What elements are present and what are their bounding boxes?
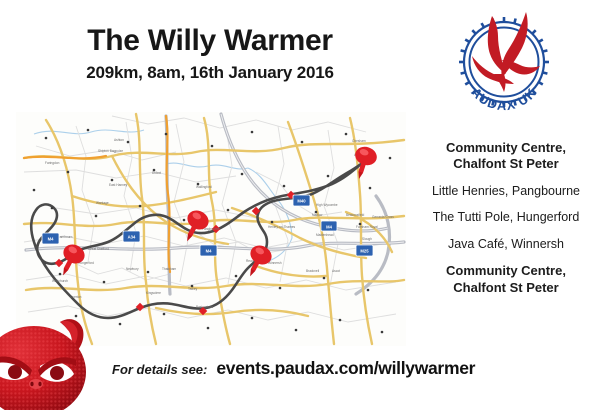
control-point-1: Little Henries, Pangbourne [412, 184, 600, 200]
svg-text:M4: M4 [326, 224, 332, 229]
svg-text:Wallingford: Wallingford [196, 185, 212, 189]
svg-text:M25: M25 [360, 249, 369, 254]
svg-text:Ascot: Ascot [332, 269, 340, 273]
control-points-list: Community Centre, Chalfont St Peter Litt… [412, 140, 600, 307]
svg-text:High Wycombe: High Wycombe [316, 203, 338, 207]
svg-text:M40: M40 [297, 199, 306, 204]
devil-mascot [0, 300, 104, 410]
svg-text:Shipton Bagpuize: Shipton Bagpuize [98, 149, 123, 153]
shield-m4-east: M4 [321, 221, 337, 231]
svg-text:Ashton: Ashton [114, 138, 124, 142]
svg-text:Didcot: Didcot [152, 171, 161, 175]
svg-text:Winnersh: Winnersh [268, 261, 282, 265]
svg-text:Whitchurch: Whitchurch [52, 279, 68, 283]
footer: For details see: events.paudax.com/willy… [112, 358, 475, 379]
svg-text:East Hanney: East Hanney [109, 183, 128, 187]
svg-text:Farnham Royal: Farnham Royal [356, 225, 378, 229]
title-block: The Willy Warmer 209km, 8am, 16th Januar… [0, 24, 420, 83]
svg-text:A34: A34 [128, 235, 136, 240]
svg-text:M4: M4 [206, 249, 212, 254]
shield-a34: A34 [123, 231, 140, 242]
devil-nose-icon [29, 379, 43, 389]
audax-uk-logo: AUDAX UK [448, 8, 560, 120]
control-point-2: The Tutti Pole, Hungerford [412, 210, 600, 226]
svg-text:Gerrards Cross: Gerrards Cross [372, 215, 394, 219]
svg-text:Bracknell: Bracknell [306, 269, 319, 273]
svg-text:Kingsclere: Kingsclere [146, 291, 161, 295]
svg-text:Faringdon: Faringdon [45, 161, 60, 165]
footer-label: For details see: [112, 362, 207, 377]
svg-text:Wantage: Wantage [96, 201, 109, 205]
svg-text:Basingstoke: Basingstoke [196, 305, 214, 309]
svg-text:Slough: Slough [362, 237, 372, 241]
control-point-finish: Community Centre, Chalfont St Peter [412, 263, 600, 296]
control-point-3: Java Café, Winnersh [412, 237, 600, 253]
svg-text:Newbury: Newbury [126, 267, 139, 271]
svg-text:Marlow: Marlow [312, 213, 323, 217]
shield-m25: M25 [356, 245, 373, 256]
svg-text:Thatcham: Thatcham [162, 267, 177, 271]
shield-m40-north: M40 [293, 195, 310, 206]
poster-canvas: The Willy Warmer 209km, 8am, 16th Januar… [0, 0, 600, 400]
svg-text:Tadley: Tadley [188, 287, 198, 291]
svg-text:M4: M4 [48, 237, 54, 242]
shield-m4-central: M4 [200, 245, 217, 256]
svg-text:Maidenhead: Maidenhead [316, 233, 334, 237]
svg-text:Lambourn: Lambourn [58, 235, 73, 239]
control-point-start: Community Centre, Chalfont St Peter [412, 140, 600, 173]
svg-text:Great Shefford: Great Shefford [88, 247, 109, 251]
page-title: The Willy Warmer [0, 24, 420, 57]
svg-text:Beaconsfield: Beaconsfield [346, 213, 364, 217]
svg-text:Overton: Overton [70, 295, 82, 299]
svg-text:Chesham: Chesham [352, 139, 366, 143]
event-url[interactable]: events.paudax.com/willywarmer [216, 358, 475, 379]
shield-m4-west: M4 [42, 233, 59, 244]
page-subtitle: 209km, 8am, 16th January 2016 [0, 63, 420, 83]
svg-text:Henley-on-Thames: Henley-on-Thames [268, 225, 296, 229]
